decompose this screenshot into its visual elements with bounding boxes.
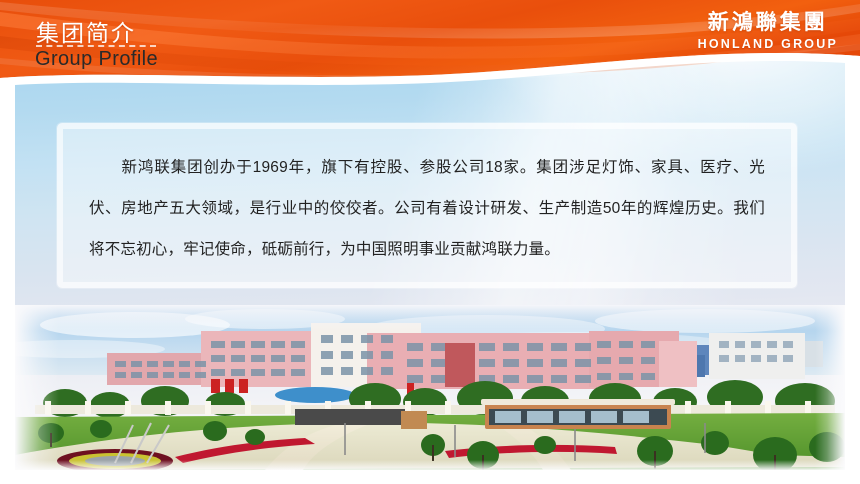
campus-photo-illustration: [15, 305, 845, 470]
group-profile-paragraph: 新鸿联集团创办于1969年，旗下有控股、参股公司18家。集团涉足灯饰、家具、医疗…: [89, 147, 765, 270]
profile-text-inner: 新鸿联集团创办于1969年，旗下有控股、参股公司18家。集团涉足灯饰、家具、医疗…: [63, 129, 791, 282]
logo-name-en: HONLAND GROUP: [698, 38, 838, 51]
slide-header: 集团简介 Group Profile 新鴻聯集團 HONLAND GROUP: [0, 0, 860, 92]
profile-text-panel: 新鸿联集团创办于1969年，旗下有控股、参股公司18家。集团涉足灯饰、家具、医疗…: [57, 123, 797, 288]
campus-photo: [15, 305, 845, 470]
page-title-zh: 集团简介: [36, 14, 136, 48]
company-logo[interactable]: 新鴻聯集團 HONLAND GROUP: [698, 12, 838, 51]
slide-canvas: 新鸿联集团创办于1969年，旗下有控股、参股公司18家。集团涉足灯饰、家具、医疗…: [0, 0, 860, 484]
page-title-en: Group Profile: [35, 48, 158, 71]
logo-name-zh: 新鴻聯集團: [698, 12, 838, 33]
